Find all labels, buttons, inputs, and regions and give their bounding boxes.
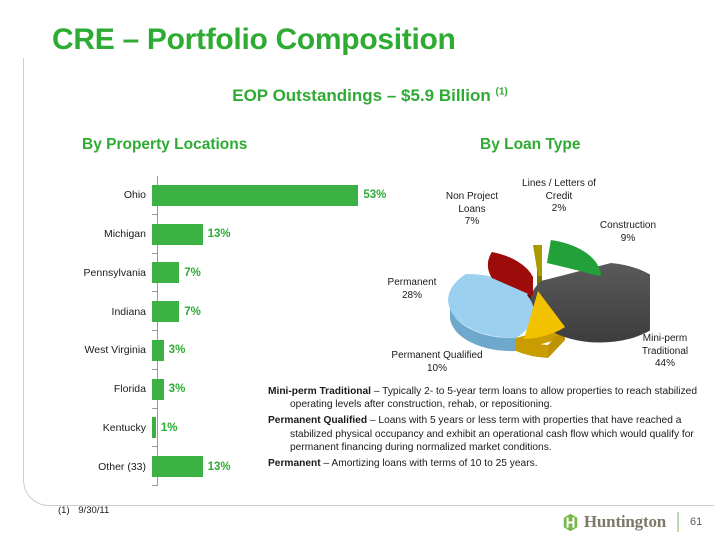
bar-fill	[152, 456, 203, 477]
definition-item: Mini-perm Traditional – Typically 2- to …	[268, 385, 700, 411]
bar-value-label: 3%	[169, 344, 186, 356]
pie-label-permanent: Permanent 28%	[376, 277, 448, 302]
huntington-hexagon-logo-icon	[561, 513, 580, 532]
bar-category-label: Indiana	[44, 306, 152, 318]
section-heading-property-locations: By Property Locations	[82, 136, 247, 154]
footer-right: Huntington 61	[561, 512, 708, 532]
bar-fill	[152, 379, 164, 400]
definition-term: Mini-perm Traditional –	[268, 386, 382, 397]
bar-value-label: 3%	[169, 383, 186, 395]
footer-divider	[677, 512, 679, 532]
bar-value-label: 53%	[363, 189, 386, 201]
bar-value-label: 7%	[184, 306, 201, 318]
definition-term: Permanent –	[268, 458, 331, 469]
page-title: CRE – Portfolio Composition	[52, 23, 456, 57]
bar-fill	[152, 262, 179, 283]
footnote: (1) 9/30/11	[58, 505, 109, 516]
pie-label-non-project-loans: Non Project Loans 7%	[434, 191, 510, 229]
bar-category-label: Pennsylvania	[44, 267, 152, 279]
bar-category-label: Other (33)	[44, 461, 152, 473]
page-number: 61	[690, 516, 708, 528]
footnote-text: 9/30/11	[78, 505, 109, 516]
page-subtitle: EOP Outstandings – $5.9 Billion (1)	[0, 86, 720, 106]
bar-category-label: West Virginia	[44, 344, 152, 356]
bar-category-label: Michigan	[44, 228, 152, 240]
definition-text: Amortizing loans with terms of 10 to 25 …	[331, 458, 537, 469]
loan-type-definitions: Mini-perm Traditional – Typically 2- to …	[268, 385, 700, 473]
bar-track: 7%	[152, 292, 389, 331]
bar-track: 53%	[152, 176, 389, 215]
subtitle-text: EOP Outstandings – $5.9 Billion	[232, 86, 491, 105]
bar-fill	[152, 301, 179, 322]
bar-chart-row: Pennsylvania7%	[44, 254, 389, 293]
slide: CRE – Portfolio Composition EOP Outstand…	[0, 0, 720, 540]
footnote-number: (1)	[58, 505, 70, 516]
bar-track: 7%	[152, 254, 389, 293]
bar-category-label: Kentucky	[44, 422, 152, 434]
bar-track: 13%	[152, 215, 389, 254]
bar-category-label: Florida	[44, 383, 152, 395]
bar-value-label: 13%	[208, 461, 231, 473]
bar-fill	[152, 224, 203, 245]
definition-item: Permanent Qualified – Loans with 5 years…	[268, 414, 700, 454]
pie-chart-loan-type: Non Project Loans 7% Lines / Letters of …	[400, 185, 720, 385]
bar-category-label: Ohio	[44, 189, 152, 201]
pie-label-mini-perm-traditional: Mini-perm Traditional 44%	[628, 333, 702, 371]
section-heading-loan-type: By Loan Type	[480, 136, 580, 154]
huntington-logo: Huntington	[561, 512, 666, 532]
bar-fill	[152, 340, 164, 361]
bar-chart-row: Ohio53%	[44, 176, 389, 215]
bar-fill	[152, 185, 358, 206]
bar-value-label: 7%	[184, 267, 201, 279]
pie-label-lines-letters-of-credit: Lines / Letters of Credit 2%	[504, 178, 614, 216]
pie-label-permanent-qualified: Permanent Qualified 10%	[372, 350, 502, 375]
pie-label-construction: Construction 9%	[586, 220, 670, 245]
bar-fill	[152, 417, 156, 438]
subtitle-footnote-marker: (1)	[496, 86, 508, 97]
huntington-logo-text: Huntington	[584, 512, 666, 532]
definition-term: Permanent Qualified –	[268, 415, 378, 426]
bar-chart-row: Michigan13%	[44, 215, 389, 254]
bar-track: 3%	[152, 331, 389, 370]
bar-value-label: 1%	[161, 422, 178, 434]
bar-chart-row: West Virginia3%	[44, 331, 389, 370]
bar-chart-row: Indiana7%	[44, 292, 389, 331]
definition-item: Permanent – Amortizing loans with terms …	[268, 457, 700, 470]
bar-value-label: 13%	[208, 228, 231, 240]
